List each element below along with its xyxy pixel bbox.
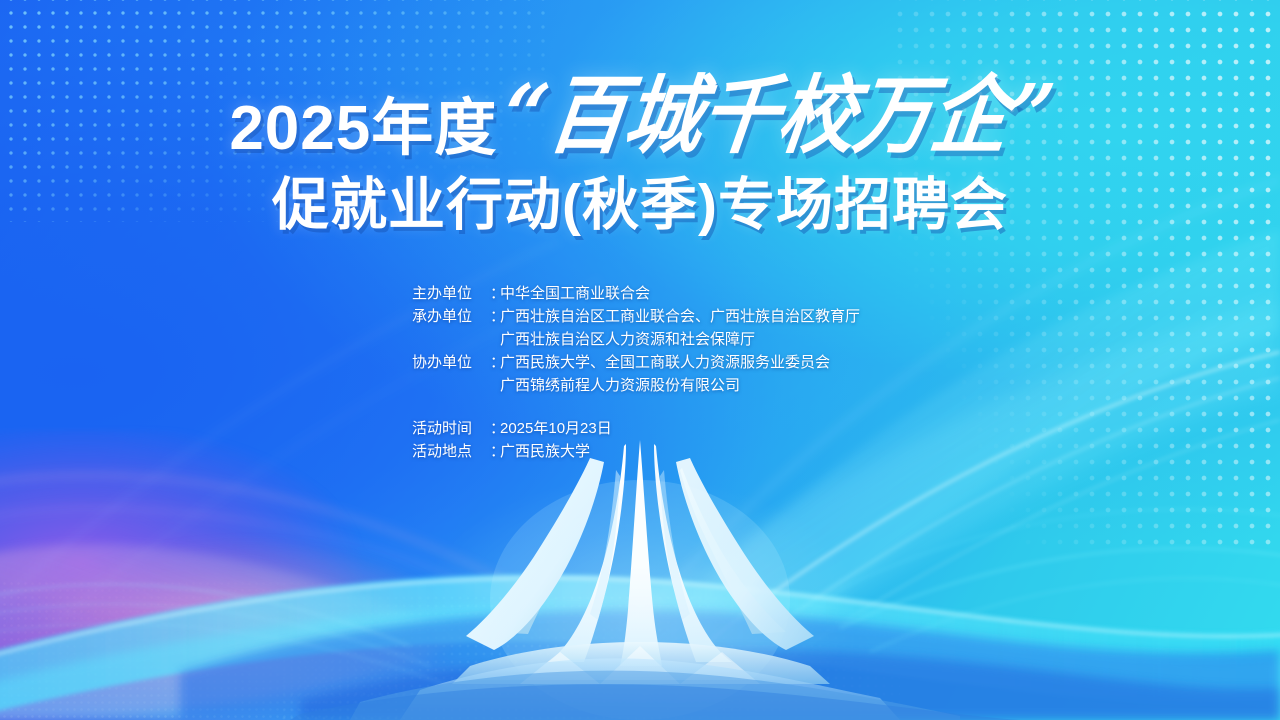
time-colon: ：	[490, 417, 500, 440]
supporter-colon: ：	[490, 351, 500, 374]
university-landmark-building	[0, 440, 1280, 720]
halftone-dots-bottom-center	[280, 594, 900, 720]
organizer-value: 中华全国工商业联合会	[500, 282, 650, 305]
aurora-glow-magenta	[40, 530, 560, 710]
place-label: 活动地点	[412, 440, 490, 463]
info-row-place: 活动地点 ： 广西民族大学	[412, 440, 860, 463]
title-quote-close: ”	[1004, 73, 1058, 158]
co-organizer-label: 承办单位	[412, 305, 490, 328]
aurora-glow-violet	[0, 430, 580, 720]
info-row-organizer: 主办单位 ： 中华全国工商业联合会	[412, 282, 860, 305]
title-year: 2025年度	[229, 98, 497, 160]
halftone-dots-bottom-left	[0, 580, 410, 720]
event-info-block: 主办单位 ： 中华全国工商业联合会 承办单位 ： 广西壮族自治区工商业联合会、广…	[412, 282, 860, 463]
time-label: 活动时间	[412, 417, 490, 440]
supporter-label: 协办单位	[412, 351, 490, 374]
info-row-time: 活动时间 ： 2025年10月23日	[412, 417, 860, 440]
title-subtitle: 促就业行动(秋季)专场招聘会	[0, 176, 1280, 236]
supporter-value: 广西民族大学、全国工商联人力资源服务业委员会	[500, 351, 830, 374]
co-organizer-colon: ：	[490, 305, 500, 328]
poster-title-block: 2025年度“百城千校万企” 促就业行动(秋季)专场招聘会	[0, 74, 1280, 236]
co-organizer-value-line2: 广西壮族自治区人力资源和社会保障厅	[412, 328, 860, 351]
organizer-label: 主办单位	[412, 282, 490, 305]
place-colon: ：	[490, 440, 500, 463]
title-line-primary: 2025年度“百城千校万企”	[0, 74, 1280, 164]
info-row-co-organizer: 承办单位 ： 广西壮族自治区工商业联合会、广西壮族自治区教育厅	[412, 305, 860, 328]
co-organizer-value: 广西壮族自治区工商业联合会、广西壮族自治区教育厅	[500, 305, 860, 328]
organizer-colon: ：	[490, 282, 500, 305]
event-poster: 2025年度“百城千校万企” 促就业行动(秋季)专场招聘会 主办单位 ： 中华全…	[0, 0, 1280, 720]
place-value: 广西民族大学	[500, 440, 590, 463]
info-spacer	[412, 397, 860, 417]
title-slogan: 百城千校万企	[543, 73, 1012, 158]
supporter-value-line2: 广西锦绣前程人力资源股份有限公司	[412, 374, 860, 397]
time-value: 2025年10月23日	[500, 417, 612, 440]
info-row-supporter: 协办单位 ： 广西民族大学、全国工商联人力资源服务业委员会	[412, 351, 860, 374]
